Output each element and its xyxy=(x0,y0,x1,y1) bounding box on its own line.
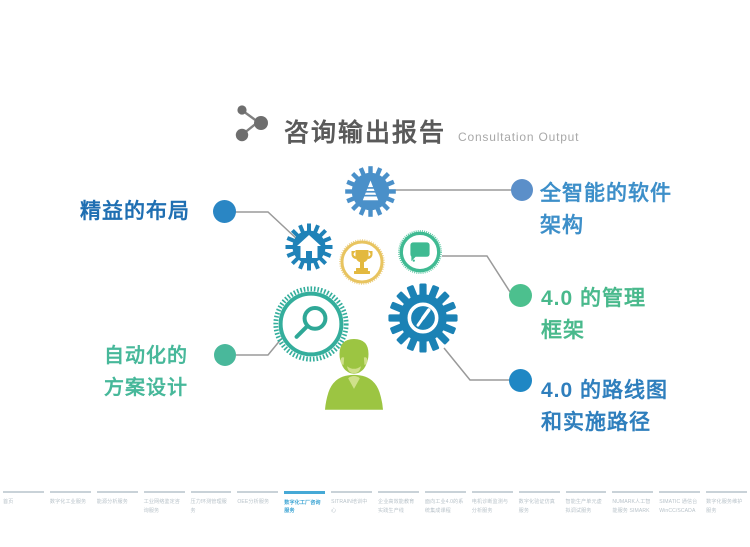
nav-item-rule xyxy=(237,491,278,493)
nav-item-rule xyxy=(566,491,607,493)
nav-item-label: 数字化工厂咨询服务 xyxy=(284,499,325,517)
nav-item-11[interactable]: 数字化验证仿真服务 xyxy=(516,491,563,516)
nav-item-rule xyxy=(3,491,44,493)
nav-item-rule xyxy=(612,491,653,493)
callout-label-roadmap: 4.0 的路线图 和实施路径 xyxy=(541,375,668,438)
nav-item-label: 能源分析服务 xyxy=(97,498,138,507)
nav-item-0[interactable]: 首页 xyxy=(0,491,47,507)
dot-automation xyxy=(214,344,236,366)
nav-item-rule xyxy=(284,491,325,494)
nav-item-5[interactable]: OEE分析服务 xyxy=(234,491,281,507)
dot-lean xyxy=(213,200,236,223)
nav-item-14[interactable]: SIMATIC 通信台 WinCC/SCADA xyxy=(656,491,703,516)
callout-label-software: 全智能的软件 架构 xyxy=(540,178,672,241)
gear-pyramid-icon xyxy=(343,164,398,219)
nav-item-9[interactable]: 面向工业4.0的系统集成课程 xyxy=(422,491,469,516)
nav-item-label: 面向工业4.0的系统集成课程 xyxy=(425,498,466,516)
nav-item-label: 压力环测管理服务 xyxy=(191,498,232,516)
callout-label-management: 4.0 的管理 框架 xyxy=(541,283,646,346)
gauge-gear-icon xyxy=(387,282,459,354)
nav-item-label: NUMARK人工智能服务 SIMARK xyxy=(612,498,653,516)
nav-item-8[interactable]: 企业高效能教育实践生产线 xyxy=(375,491,422,516)
nav-item-label: 数字化验证仿真服务 xyxy=(519,498,560,516)
dot-management xyxy=(509,284,532,307)
nav-item-label: SITRAIN培训中心 xyxy=(331,498,372,516)
nav-item-15[interactable]: 数字化服务维护服务 xyxy=(703,491,750,516)
nav-item-label: 工业网络鉴定咨询服务 xyxy=(144,498,185,516)
nav-item-rule xyxy=(331,491,372,493)
nav-item-rule xyxy=(50,491,91,493)
nav-item-rule xyxy=(472,491,513,493)
nav-item-label: 首页 xyxy=(3,498,44,507)
nav-item-3[interactable]: 工业网络鉴定咨询服务 xyxy=(141,491,188,516)
speech-bubble-icon xyxy=(396,228,444,276)
nav-item-13[interactable]: NUMARK人工智能服务 SIMARK xyxy=(609,491,656,516)
nav-item-rule xyxy=(144,491,185,493)
nav-item-rule xyxy=(706,491,747,493)
person-avatar-icon xyxy=(325,333,383,411)
nav-item-label: 智能生产单元虚拟调试服务 xyxy=(566,498,607,516)
nav-item-rule xyxy=(378,491,419,493)
nav-item-1[interactable]: 数字化工业服务 xyxy=(47,491,94,507)
gear-house-icon xyxy=(284,222,334,272)
nav-item-rule xyxy=(659,491,700,493)
nav-item-4[interactable]: 压力环测管理服务 xyxy=(188,491,235,516)
nav-item-6[interactable]: 数字化工厂咨询服务 xyxy=(281,491,328,516)
trophy-icon xyxy=(337,237,387,287)
nav-item-label: SIMATIC 通信台 WinCC/SCADA xyxy=(659,498,700,516)
nav-item-rule xyxy=(425,491,466,493)
callout-label-lean: 精益的布局 xyxy=(80,198,190,226)
nav-item-rule xyxy=(191,491,232,493)
dot-software xyxy=(511,179,533,201)
nav-item-label: OEE分析服务 xyxy=(237,498,278,507)
nav-item-label: 数字化服务维护服务 xyxy=(706,498,747,516)
callout-label-automation: 自动化的 方案设计 xyxy=(104,340,188,404)
nav-item-10[interactable]: 电机诊断监测与分析服务 xyxy=(469,491,516,516)
nav-item-rule xyxy=(519,491,560,493)
slide-canvas: 咨询输出报告 Consultation Output xyxy=(0,0,750,547)
dot-roadmap xyxy=(509,369,532,392)
nav-item-label: 电机诊断监测与分析服务 xyxy=(472,498,513,516)
bottom-nav[interactable]: 首页数字化工业服务能源分析服务工业网络鉴定咨询服务压力环测管理服务OEE分析服务… xyxy=(0,485,750,547)
nav-item-12[interactable]: 智能生产单元虚拟调试服务 xyxy=(563,491,610,516)
nav-item-label: 数字化工业服务 xyxy=(50,498,91,507)
nav-item-7[interactable]: SITRAIN培训中心 xyxy=(328,491,375,516)
nav-item-rule xyxy=(97,491,138,493)
nav-item-2[interactable]: 能源分析服务 xyxy=(94,491,141,507)
nav-item-label: 企业高效能教育实践生产线 xyxy=(378,498,419,516)
